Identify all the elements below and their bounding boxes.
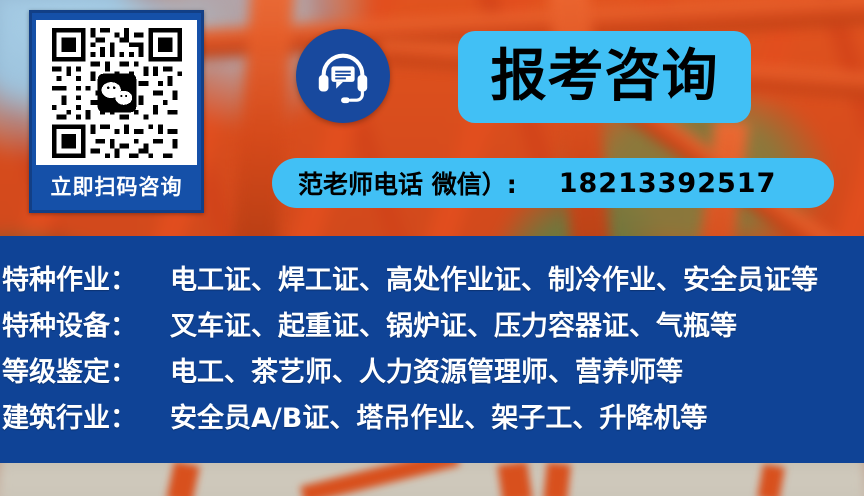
bottom-photo-strip [0,463,864,496]
headset-with-chat-bubble-icon [312,45,374,107]
qr-caption: 立即扫码咨询 [39,165,194,210]
steel-beam [543,463,571,496]
service-category: 特种设备： [2,304,170,343]
page-title: 报考咨询 [491,49,719,105]
service-row: 等级鉴定： 电工、茶艺师、人力资源管理师、营养师等 [0,350,864,396]
service-list-block: 特种作业： 电工证、焊工证、高处作业证、制冷作业、安全员证等 特种设备： 叉车证… [0,236,864,463]
service-items: 电工、茶艺师、人力资源管理师、营养师等 [170,350,683,389]
service-items: 安全员A/B证、塔吊作业、架子工、升降机等 [170,396,707,435]
contact-label: 范老师电话 微信）: [298,165,517,201]
contact-phone-number[interactable]: 18213392517 [559,168,777,199]
service-row: 建筑行业： 安全员A/B证、塔吊作业、架子工、升降机等 [0,396,864,442]
service-row: 特种设备： 叉车证、起重证、锅炉证、压力容器证、气瓶等 [0,304,864,350]
service-row: 特种作业： 电工证、焊工证、高处作业证、制冷作业、安全员证等 [0,258,864,304]
service-category: 特种作业： [2,258,170,297]
qr-code-svg [47,23,187,163]
service-items: 电工证、焊工证、高处作业证、制冷作业、安全员证等 [170,258,818,297]
qr-scan-card[interactable]: 立即扫码咨询 [29,10,204,213]
promo-poster: 立即扫码咨询 报考咨询 范老师电话 微信）: 18213392517 特 [0,0,864,496]
steel-beam [497,463,532,496]
service-items: 叉车证、起重证、锅炉证、压力容器证、气瓶等 [170,304,737,343]
headset-badge [296,29,390,123]
service-category: 建筑行业： [2,396,170,435]
title-pill: 报考咨询 [458,31,751,123]
service-category: 等级鉴定： [2,350,170,389]
qr-code-image[interactable] [36,20,197,165]
contact-pill[interactable]: 范老师电话 微信）: 18213392517 [272,158,834,208]
